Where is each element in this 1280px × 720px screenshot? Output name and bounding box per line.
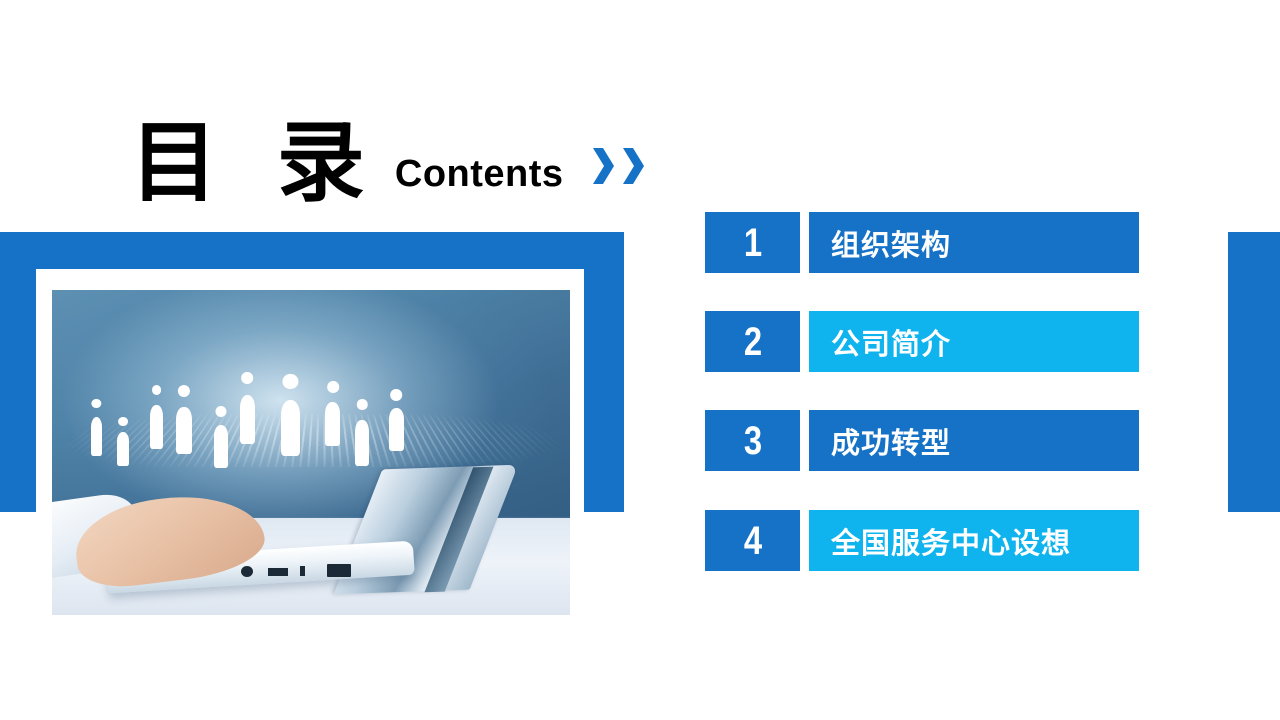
menu-item-4-label: 全国服务中心设想: [809, 520, 1071, 562]
person-silhouette: [214, 425, 228, 467]
person-silhouette: [389, 408, 404, 450]
laptop-port-slot: [300, 566, 306, 576]
menu-item-3-label-box[interactable]: 成功转型: [809, 410, 1139, 471]
right-edge-accent-bar: [1228, 232, 1280, 512]
person-silhouette: [355, 420, 368, 466]
menu-item-2-label-box[interactable]: 公司简介: [809, 311, 1139, 372]
page-title-en: Contents: [395, 153, 564, 196]
slide-title-block: 目 录 Contents: [130, 104, 652, 204]
illustration-image: [52, 290, 570, 615]
laptop-port-usb: [268, 568, 288, 576]
menu-item-3-label: 成功转型: [809, 420, 951, 462]
menu-item-2-number-box: 2: [705, 311, 800, 372]
contents-slide: 目 录 Contents: [0, 0, 1280, 720]
menu-item-1-number-box: 1: [705, 212, 800, 273]
people-silhouettes: [83, 371, 456, 456]
menu-item-3[interactable]: 3 成功转型: [705, 410, 1139, 471]
menu-item-1-number: 1: [744, 223, 761, 263]
person-silhouette: [281, 400, 300, 456]
person-silhouette: [325, 402, 340, 446]
menu-item-4-label-box[interactable]: 全国服务中心设想: [809, 510, 1139, 571]
person-silhouette: [176, 407, 192, 454]
menu-item-2-number: 2: [744, 322, 761, 362]
person-silhouette: [117, 432, 130, 466]
person-silhouette: [150, 405, 163, 449]
menu-item-3-number-box: 3: [705, 410, 800, 471]
person-silhouette: [240, 395, 255, 444]
menu-item-4-number-box: 4: [705, 510, 800, 571]
menu-item-1[interactable]: 1 组织架构: [705, 212, 1139, 273]
menu-item-3-number: 3: [744, 421, 761, 461]
menu-item-4[interactable]: 4 全国服务中心设想: [705, 510, 1139, 571]
menu-item-1-label-box[interactable]: 组织架构: [809, 212, 1139, 273]
laptop: [83, 472, 477, 602]
menu-item-1-label: 组织架构: [809, 222, 951, 264]
menu-item-2-label: 公司简介: [809, 321, 951, 363]
double-chevron-right-icon: [592, 146, 652, 186]
person-silhouette: [91, 417, 103, 456]
menu-item-2[interactable]: 2 公司简介: [705, 311, 1139, 372]
page-title-cn: 目 录: [130, 123, 379, 204]
menu-item-4-number: 4: [744, 521, 761, 561]
laptop-port-lan: [327, 564, 351, 577]
